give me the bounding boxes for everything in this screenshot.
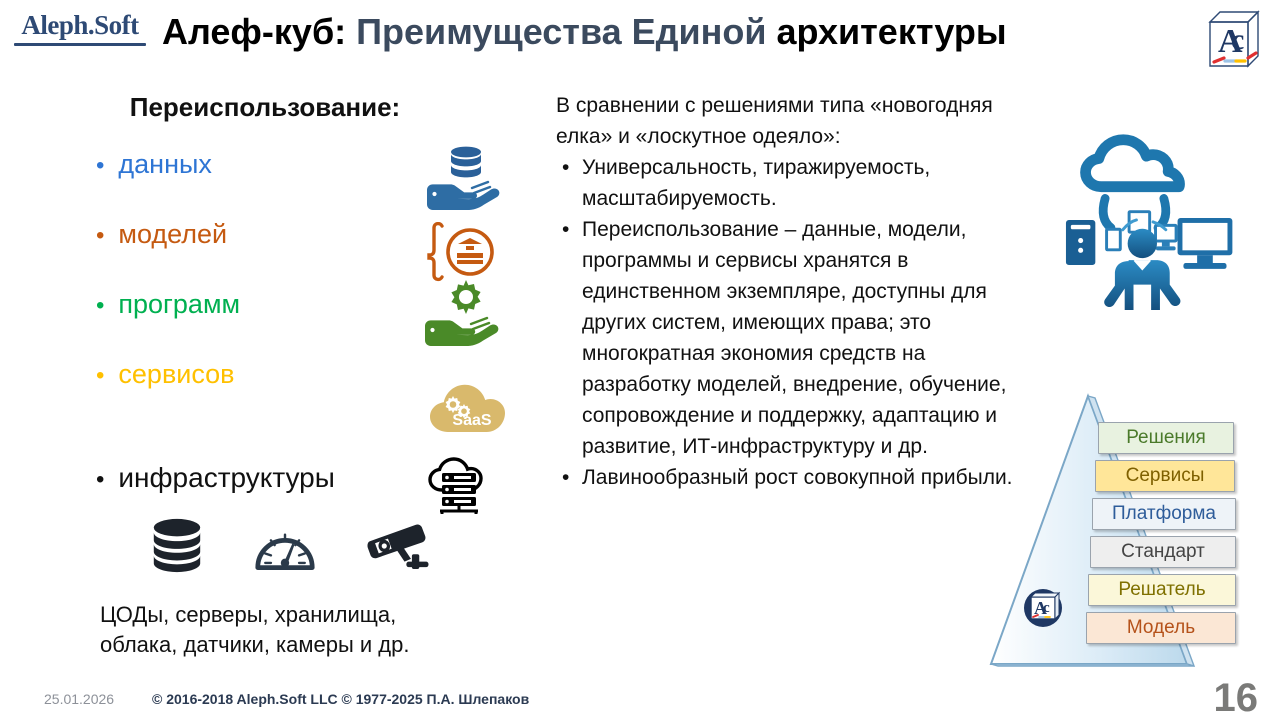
brand-logo: Aleph.Soft bbox=[10, 8, 150, 56]
aleph-cube-badge-icon: A c bbox=[1023, 588, 1063, 628]
pyramid-layer-label: Стандарт bbox=[1121, 541, 1205, 563]
server-cloud-icon bbox=[428, 456, 492, 519]
bullet-dot-models: • bbox=[96, 224, 104, 248]
saas-cloud-icon: SaaS bbox=[426, 378, 518, 443]
gauge-icon bbox=[254, 520, 316, 577]
list-item: • моделей bbox=[96, 218, 436, 250]
saas-icon-label: SaaS bbox=[452, 412, 491, 429]
pyramid-layer-label: Модель bbox=[1127, 617, 1195, 639]
reuse-heading: Переиспользование: bbox=[100, 92, 430, 123]
cloud-devices-person-icon bbox=[1044, 126, 1270, 317]
title-segment-1: Алеф-куб: bbox=[162, 11, 356, 52]
comparison-intro: В сравнении с решениями типа «новогодняя… bbox=[556, 90, 1026, 152]
pyramid-layer-reshatel: Решатель bbox=[1088, 574, 1236, 606]
title-segment-3: архитектуры bbox=[776, 11, 1006, 52]
infrastructure-icon-strip bbox=[148, 516, 428, 581]
database-on-hand-icon bbox=[424, 142, 500, 217]
slide: Aleph.Soft Алеф-куб: Преимущества Единой… bbox=[0, 0, 1280, 720]
pyramid-layer-label: Сервисы bbox=[1126, 465, 1205, 487]
pyramid-layer-platforma: Платформа bbox=[1092, 498, 1236, 530]
infrastructure-caption: ЦОДы, серверы, хранилища, облака, датчик… bbox=[100, 600, 500, 660]
bullet-dot-data: • bbox=[96, 154, 104, 178]
list-item: • сервисов bbox=[96, 358, 436, 390]
pyramid-layer-standart: Стандарт bbox=[1090, 536, 1236, 568]
comparison-block: В сравнении с решениями типа «новогодняя… bbox=[556, 90, 1026, 493]
pyramid-layer-servisy: Сервисы bbox=[1095, 460, 1235, 492]
architecture-pyramid: Решения Сервисы Платформа Стандарт Решат… bbox=[985, 392, 1275, 672]
reuse-item-label-data: данных bbox=[118, 148, 212, 180]
page-title: Алеф-куб: Преимущества Единой архитектур… bbox=[162, 8, 1182, 60]
footer-copyright: © 2016-2018 Aleph.Soft LLC © 1977-2025 П… bbox=[152, 691, 529, 707]
aleph-cube-logo-icon: A c bbox=[1204, 6, 1266, 72]
database-stack-icon bbox=[148, 516, 206, 581]
gear-on-hand-icon bbox=[422, 278, 502, 353]
infrastructure-label: инфраструктуры bbox=[118, 462, 334, 494]
pyramid-layer-model: Модель bbox=[1086, 612, 1236, 644]
bullet-dot-infrastructure: • bbox=[96, 466, 104, 494]
svg-text:c: c bbox=[1231, 23, 1244, 56]
list-item: • программ bbox=[96, 288, 436, 320]
reuse-item-label-models: моделей bbox=[118, 218, 227, 250]
pyramid-layer-label: Решатель bbox=[1118, 579, 1205, 601]
pyramid-layer-resheniya: Решения bbox=[1098, 422, 1234, 454]
list-item: Переиспользование – данные, модели, прог… bbox=[556, 214, 1026, 462]
pyramid-layer-label: Платформа bbox=[1112, 503, 1216, 525]
reuse-item-label-programs: программ bbox=[118, 288, 240, 320]
caption-line-2: облака, датчики, камеры и др. bbox=[100, 630, 500, 660]
reuse-item-label-services: сервисов bbox=[118, 358, 234, 390]
svg-text:c: c bbox=[1043, 600, 1050, 616]
title-segment-2: Преимущества Единой bbox=[356, 11, 776, 52]
list-item: • данных bbox=[96, 148, 436, 180]
bullet-dot-services: • bbox=[96, 364, 104, 388]
reuse-list: • данных • моделей • программ • сервисов bbox=[96, 148, 436, 428]
caption-line-1: ЦОДы, серверы, хранилища, bbox=[100, 600, 500, 630]
bullet-dot-programs: • bbox=[96, 294, 104, 318]
page-number: 16 bbox=[1214, 676, 1259, 721]
brand-logo-text: Aleph.Soft bbox=[10, 8, 150, 42]
comparison-list: Универсальность, тиражируемость, масштаб… bbox=[556, 152, 1026, 493]
list-item: Универсальность, тиражируемость, масштаб… bbox=[556, 152, 1026, 214]
cctv-camera-icon bbox=[364, 519, 434, 578]
brand-logo-underline bbox=[14, 43, 146, 46]
footer-date: 25.01.2026 bbox=[44, 691, 114, 707]
pyramid-layer-label: Решения bbox=[1126, 427, 1206, 449]
list-item: Лавинообразный рост совокупной прибыли. bbox=[556, 462, 1026, 493]
infrastructure-item: • инфраструктуры bbox=[96, 462, 456, 494]
